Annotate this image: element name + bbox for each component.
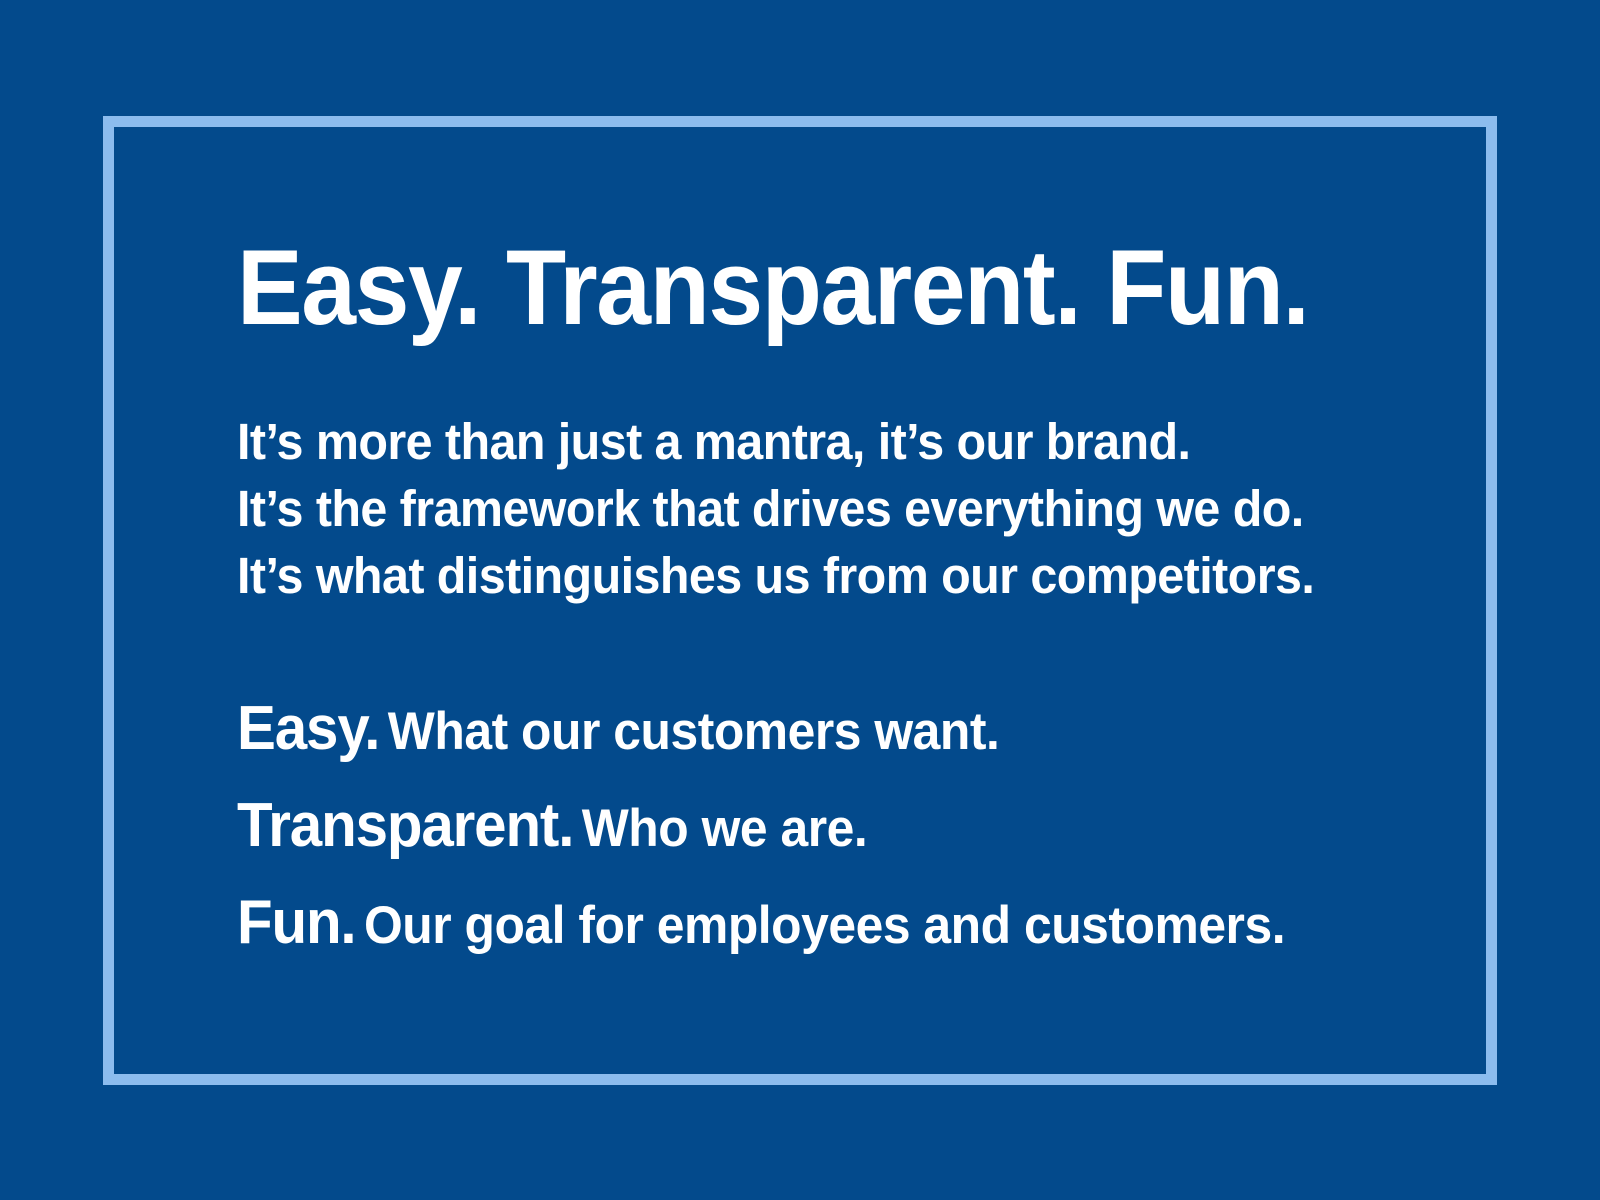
definition-item-transparent: Transparent.Who we are. (237, 785, 1346, 882)
intro-line-1: It’s more than just a mantra, it’s our b… (237, 408, 1358, 475)
definition-gloss-easy: What our customers want. (388, 702, 1000, 761)
definition-gloss-transparent: Who we are. (582, 799, 868, 858)
intro-paragraph: It’s more than just a mantra, it’s our b… (237, 408, 1417, 609)
intro-line-3: It’s what distinguishes us from our comp… (237, 542, 1358, 609)
brand-mantra-slide: Easy. Transparent. Fun. It’s more than j… (0, 0, 1600, 1200)
definition-term-transparent: Transparent. (237, 791, 573, 860)
page-title: Easy. Transparent. Fun. (237, 234, 1308, 341)
definition-term-easy: Easy. (237, 694, 379, 763)
definition-item-fun: Fun.Our goal for employees and customers… (237, 882, 1346, 979)
definitions-list: Easy.What our customers want. Transparen… (237, 688, 1417, 979)
intro-line-2: It’s the framework that drives everythin… (237, 475, 1358, 542)
definition-term-fun: Fun. (237, 888, 355, 957)
definition-gloss-fun: Our goal for employees and customers. (364, 896, 1285, 955)
definition-item-easy: Easy.What our customers want. (237, 688, 1346, 785)
